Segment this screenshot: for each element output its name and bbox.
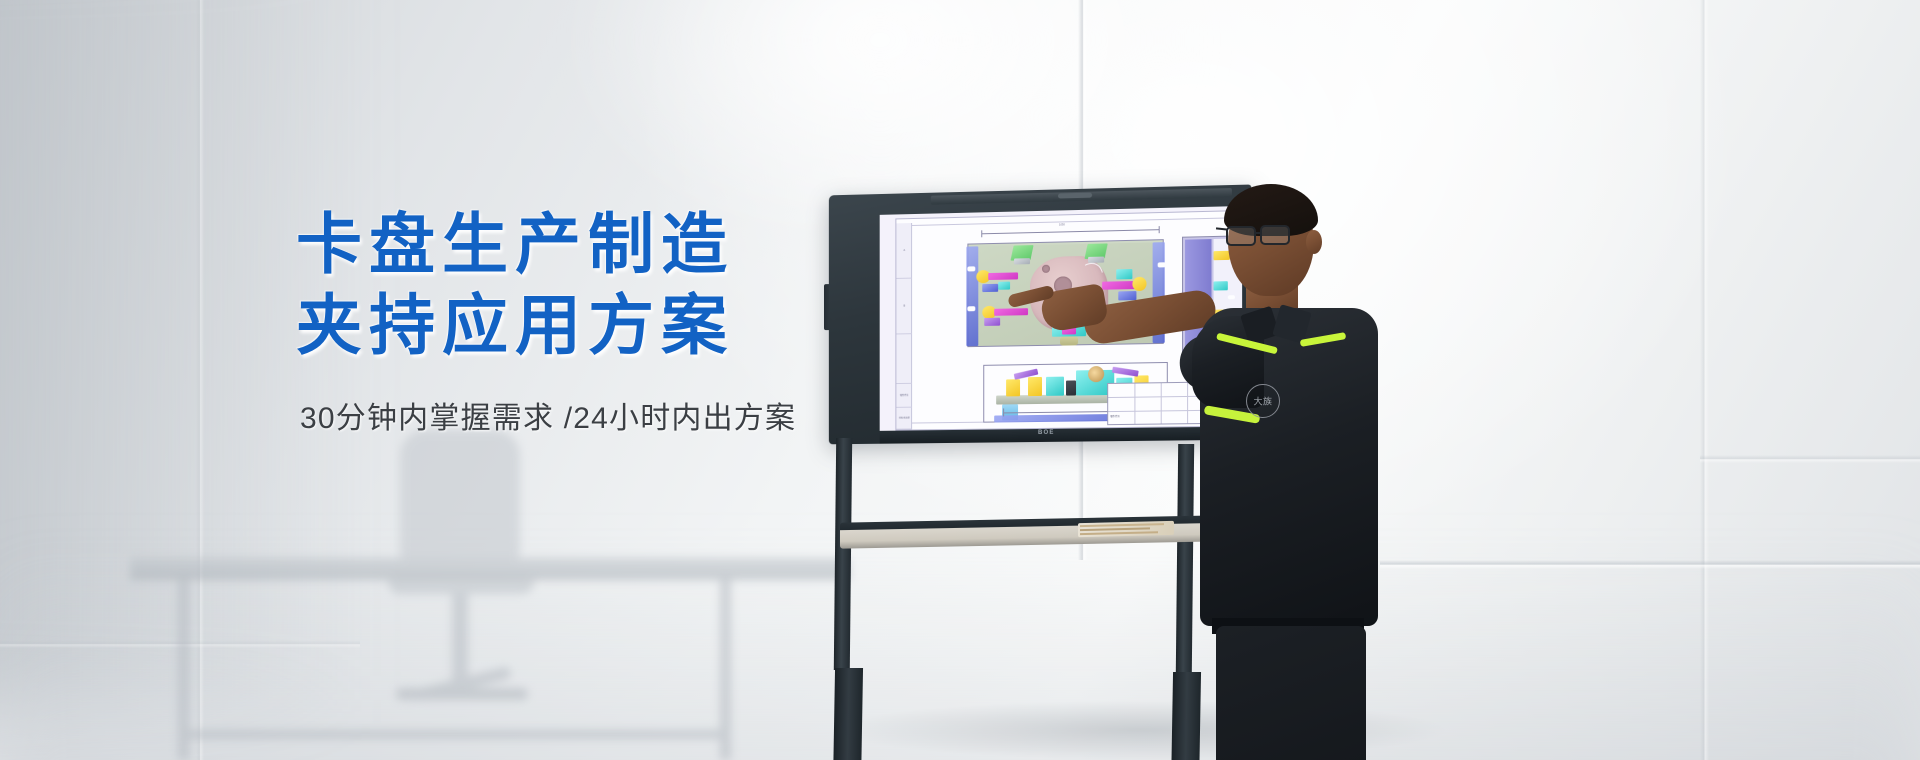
office-desk-crossbar bbox=[178, 730, 730, 739]
headline-line-2: 夹持应用方案 bbox=[296, 286, 856, 365]
stand-leg-left bbox=[833, 668, 863, 760]
background-office-furniture bbox=[120, 430, 880, 760]
cad-title-block-field: 零件代号 bbox=[1110, 414, 1120, 418]
shirt-logo-text: 大族 bbox=[1253, 395, 1272, 408]
office-chair-stem bbox=[452, 594, 468, 690]
fixture-clamp-magenta bbox=[988, 272, 1018, 280]
fixture-backing-plate bbox=[966, 246, 978, 346]
wall-panel-seam bbox=[1700, 0, 1709, 760]
elevation-clamp-yellow bbox=[1006, 379, 1020, 396]
hero-text-block: 卡盘生产制造 夹持应用方案 30分钟内掌握需求 /24小时内出方案 bbox=[296, 205, 856, 437]
fixture-clamp-body bbox=[1088, 257, 1104, 263]
rail-slot bbox=[967, 266, 975, 271]
office-chair-base bbox=[396, 688, 528, 700]
presenter-person: 大族 bbox=[1160, 170, 1440, 760]
glasses-icon bbox=[1226, 226, 1256, 246]
glasses-bridge bbox=[1255, 232, 1262, 234]
elevation-clamp-cyan bbox=[1046, 377, 1064, 396]
cad-dimension-tick bbox=[1003, 408, 1004, 416]
fixture-clamp-magenta bbox=[1102, 281, 1136, 290]
fixture-locator-pin bbox=[1060, 336, 1078, 345]
presenter-trousers bbox=[1216, 626, 1366, 760]
wall-panel-seam-horizontal bbox=[1700, 455, 1920, 463]
elevation-block-dark bbox=[1066, 380, 1076, 395]
stand-column-left bbox=[834, 438, 852, 670]
headline-line-1: 卡盘生产制造 bbox=[296, 205, 856, 284]
fixture-clamp-body bbox=[1014, 258, 1030, 264]
fixture-clamp-cyan bbox=[998, 282, 1010, 290]
glasses-icon bbox=[1260, 225, 1290, 245]
fixture-clamp-blue bbox=[1118, 291, 1136, 300]
hero-subtitle: 30分钟内掌握需求 /24小时内出方案 bbox=[300, 393, 856, 437]
cad-dimension-label: 1030 bbox=[1059, 223, 1065, 226]
glasses-temple bbox=[1216, 227, 1228, 230]
fixture-clamp-cyan bbox=[1116, 269, 1132, 279]
elevation-arm-purple bbox=[1112, 367, 1139, 377]
brand-logo: BOE bbox=[1038, 430, 1055, 436]
shirt-chest-logo: 大族 bbox=[1246, 384, 1280, 418]
office-desk-edge bbox=[130, 571, 850, 580]
cad-dimension-tick bbox=[981, 230, 982, 237]
rail-slot bbox=[967, 306, 975, 311]
fixture-clamp-magenta bbox=[994, 308, 1028, 316]
wall-panel-seam-horizontal bbox=[1380, 560, 1920, 569]
fixture-clamp-blue bbox=[982, 284, 998, 292]
elevation-clamp-yellow bbox=[1028, 377, 1042, 396]
fixture-clamp-purple bbox=[984, 318, 1000, 326]
hero-banner: 卡盘生产制造 夹持应用方案 30分钟内掌握需求 /24小时内出方案 A B bbox=[0, 0, 1920, 760]
presenter-ear bbox=[1306, 230, 1322, 254]
office-desk-top bbox=[130, 558, 850, 571]
office-chair-back bbox=[400, 430, 520, 565]
cad-index-column: A B 零件代号 材料/热处理 bbox=[896, 223, 912, 430]
camera-icon bbox=[1058, 193, 1092, 199]
